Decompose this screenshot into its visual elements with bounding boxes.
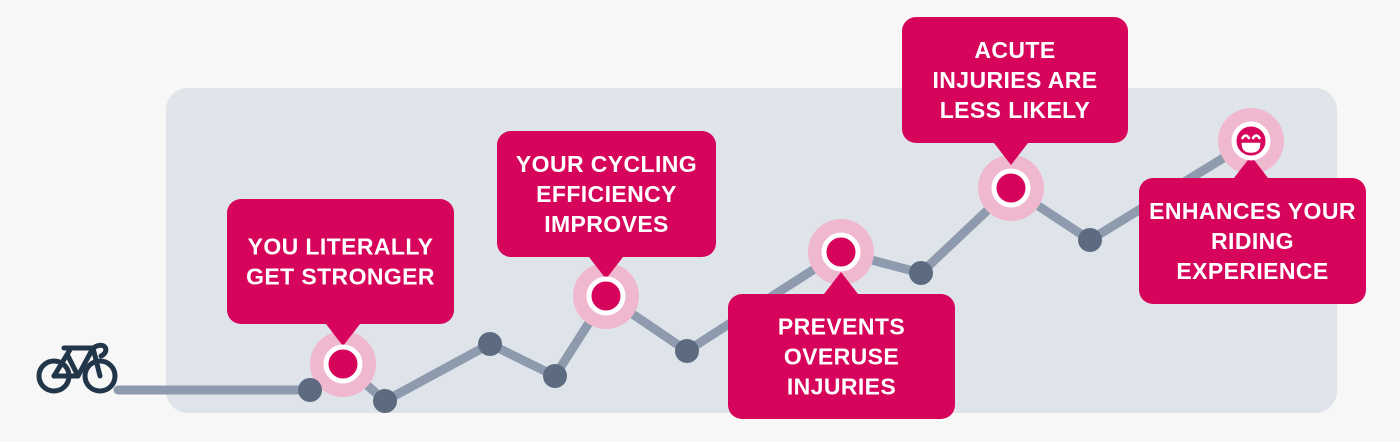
- highlight-node-core: [326, 347, 360, 381]
- highlight-node-core: [1234, 124, 1268, 158]
- callout-line: YOUR CYCLING: [516, 151, 697, 177]
- callout-you-literally-get-stronger[interactable]: YOU LITERALLYGET STRONGER: [227, 199, 454, 346]
- callout-line: RIDING: [1211, 228, 1294, 254]
- data-point-dot[interactable]: [675, 339, 699, 363]
- callout-line: INJURIES: [787, 373, 896, 399]
- highlight-node[interactable]: [994, 171, 1028, 205]
- infographic-canvas: YOU LITERALLYGET STRONGERYOUR CYCLINGEFF…: [0, 0, 1400, 442]
- infographic-root: YOU LITERALLYGET STRONGERYOUR CYCLINGEFF…: [0, 0, 1400, 442]
- data-point-dot[interactable]: [1078, 228, 1102, 252]
- callout-line: IMPROVES: [544, 211, 669, 237]
- callout-line: OVERUSE: [784, 343, 899, 369]
- callout-your-cycling-efficiency-improves[interactable]: YOUR CYCLINGEFFICIENCYIMPROVES: [497, 131, 716, 279]
- data-point-dot[interactable]: [909, 261, 933, 285]
- callout-line: GET STRONGER: [246, 263, 435, 289]
- bicycle-icon: [39, 345, 115, 391]
- data-point-dot[interactable]: [298, 378, 322, 402]
- callout-line: PREVENTS: [778, 313, 905, 339]
- highlight-node[interactable]: [824, 235, 858, 269]
- highlight-node-core: [994, 171, 1028, 205]
- callout-line: EFFICIENCY: [536, 181, 677, 207]
- callout-line: EXPERIENCE: [1176, 258, 1328, 284]
- data-point-dot[interactable]: [478, 332, 502, 356]
- callout-enhances-your-riding-experience[interactable]: ENHANCES YOURRIDINGEXPERIENCE: [1139, 156, 1366, 304]
- callout-line: LESS LIKELY: [940, 97, 1091, 123]
- callout-prevents-overuse-injuries[interactable]: PREVENTSOVERUSEINJURIES: [728, 272, 955, 419]
- data-point-dot[interactable]: [373, 389, 397, 413]
- callout-line: YOU LITERALLY: [248, 233, 434, 259]
- highlight-node[interactable]: [589, 279, 623, 313]
- highlight-node-smiley[interactable]: [1234, 124, 1268, 158]
- callout-line: ENHANCES YOUR: [1149, 198, 1356, 224]
- highlight-node[interactable]: [326, 347, 360, 381]
- callout-acute-injuries-are-less-likely[interactable]: ACUTEINJURIES ARELESS LIKELY: [902, 17, 1128, 165]
- callout-line: ACUTE: [974, 37, 1055, 63]
- data-point-dot[interactable]: [543, 364, 567, 388]
- highlight-node-core: [824, 235, 858, 269]
- highlight-node-core: [589, 279, 623, 313]
- callout-line: INJURIES ARE: [933, 67, 1098, 93]
